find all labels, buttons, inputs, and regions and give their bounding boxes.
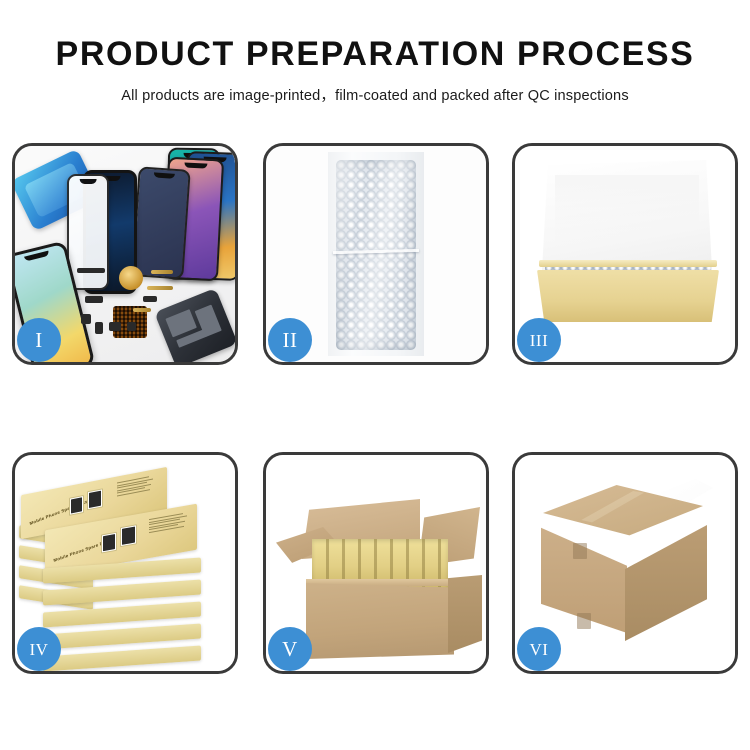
step-panel-5[interactable]: V bbox=[263, 452, 489, 674]
stacked-box-graphic bbox=[43, 645, 201, 671]
step-badge-5: V bbox=[268, 627, 312, 671]
small-part-graphic bbox=[85, 296, 103, 303]
step-badge-3: III bbox=[517, 318, 561, 362]
steps-grid: I II III bbox=[0, 0, 750, 750]
step-panel-2[interactable]: II bbox=[263, 143, 489, 365]
step-badge-6: VI bbox=[517, 627, 561, 671]
flex-cable-graphic bbox=[147, 286, 173, 290]
small-part-graphic bbox=[109, 322, 121, 331]
small-part-graphic bbox=[77, 268, 105, 273]
carton-tab-graphic bbox=[573, 543, 587, 559]
step-panel-4[interactable]: Mobile Phone Spare Parts Mobile Phone Sp… bbox=[12, 452, 238, 674]
step-badge-4: IV bbox=[17, 627, 61, 671]
box-print-screen bbox=[120, 524, 137, 547]
small-part-graphic bbox=[81, 314, 91, 324]
phone-navy-graphic bbox=[131, 166, 191, 279]
product-preparation-infographic: PRODUCT PREPARATION PROCESS All products… bbox=[0, 0, 750, 750]
carton-side-panel-graphic bbox=[448, 575, 482, 653]
step-panel-3[interactable]: III bbox=[512, 143, 738, 365]
step-badge-1: I bbox=[17, 318, 61, 362]
step-badge-2: II bbox=[268, 318, 312, 362]
stacked-box-graphic bbox=[43, 623, 201, 649]
inner-box-body-graphic bbox=[537, 270, 719, 322]
box-print-screen bbox=[101, 532, 117, 554]
carton-front-panel-graphic bbox=[306, 583, 454, 659]
box-print-screen bbox=[69, 495, 84, 516]
carton-tab-graphic bbox=[577, 613, 591, 629]
step-panel-1[interactable]: I bbox=[12, 143, 238, 365]
box-print-screen bbox=[87, 488, 103, 510]
box-print-lines bbox=[117, 475, 155, 498]
bubble-wrap-sheen bbox=[336, 160, 416, 350]
coil-part-graphic bbox=[119, 266, 143, 290]
step-panel-6[interactable]: VI bbox=[512, 452, 738, 674]
flex-cable-graphic bbox=[151, 270, 173, 274]
small-part-graphic bbox=[95, 322, 103, 334]
flex-cable-graphic bbox=[133, 308, 151, 312]
phone-internals-graphic bbox=[154, 288, 235, 362]
small-part-graphic bbox=[143, 296, 157, 302]
inner-box-lip-graphic bbox=[539, 260, 717, 267]
box-print-lines bbox=[149, 512, 189, 535]
sealed-carton-side-graphic bbox=[625, 525, 707, 641]
small-part-graphic bbox=[127, 322, 136, 331]
